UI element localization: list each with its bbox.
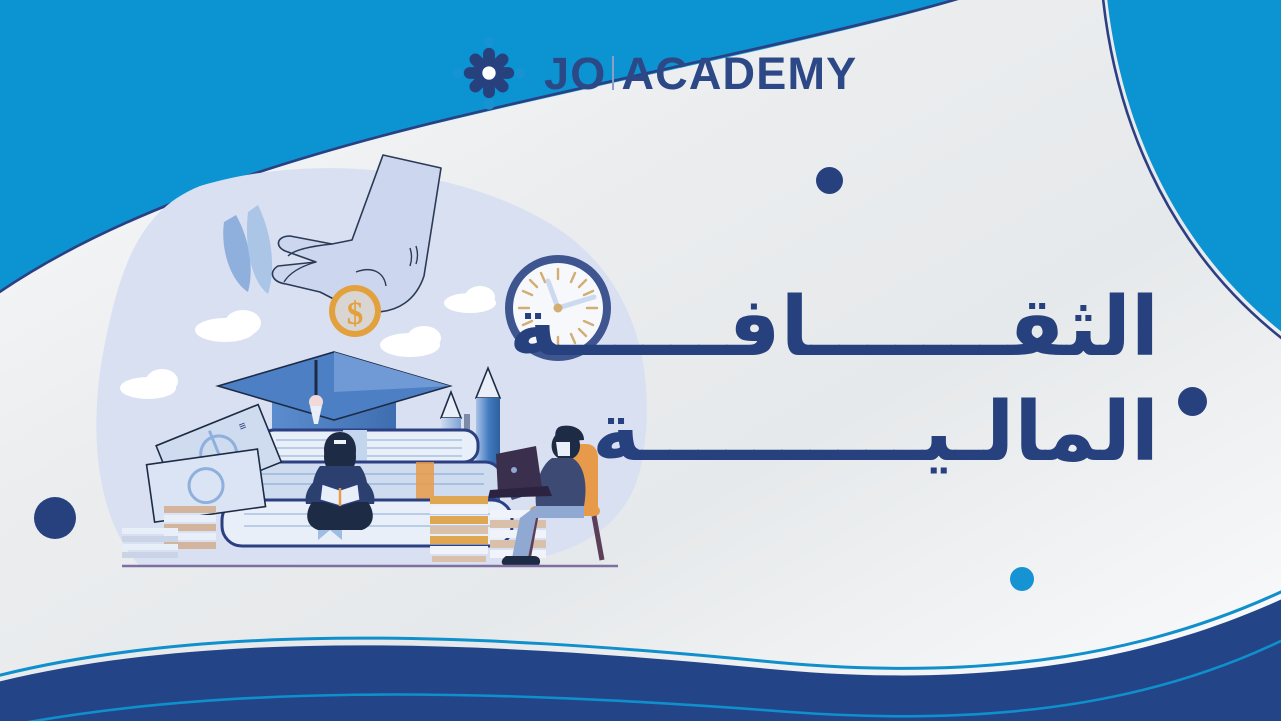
dollar-coin: $ [329,285,381,337]
brand-divider [612,56,614,90]
brand-word-jo: JO [544,51,606,96]
brand-wordmark: JO ACADEMY [544,51,857,96]
brand-logo: JO ACADEMY [452,36,857,110]
dot-navy-right [1178,387,1207,416]
jo-academy-asterisk-logo-icon [452,36,526,110]
dot-navy-top [816,167,843,194]
slide-canvas: $ [0,0,1281,721]
brand-word-academy: ACADEMY [621,51,857,96]
dot-navy-left [34,497,76,539]
page-title: الثقـــــــافــــــة المالـيــــــــــة [509,276,1159,486]
headline-line-2: المالـيــــــــــة [509,381,1159,486]
headline-line-1: الثقـــــــافــــــة [509,276,1159,381]
dot-cyan-bottom [1010,567,1034,591]
svg-text:$: $ [347,296,364,332]
dot-cyan-top [260,130,287,157]
